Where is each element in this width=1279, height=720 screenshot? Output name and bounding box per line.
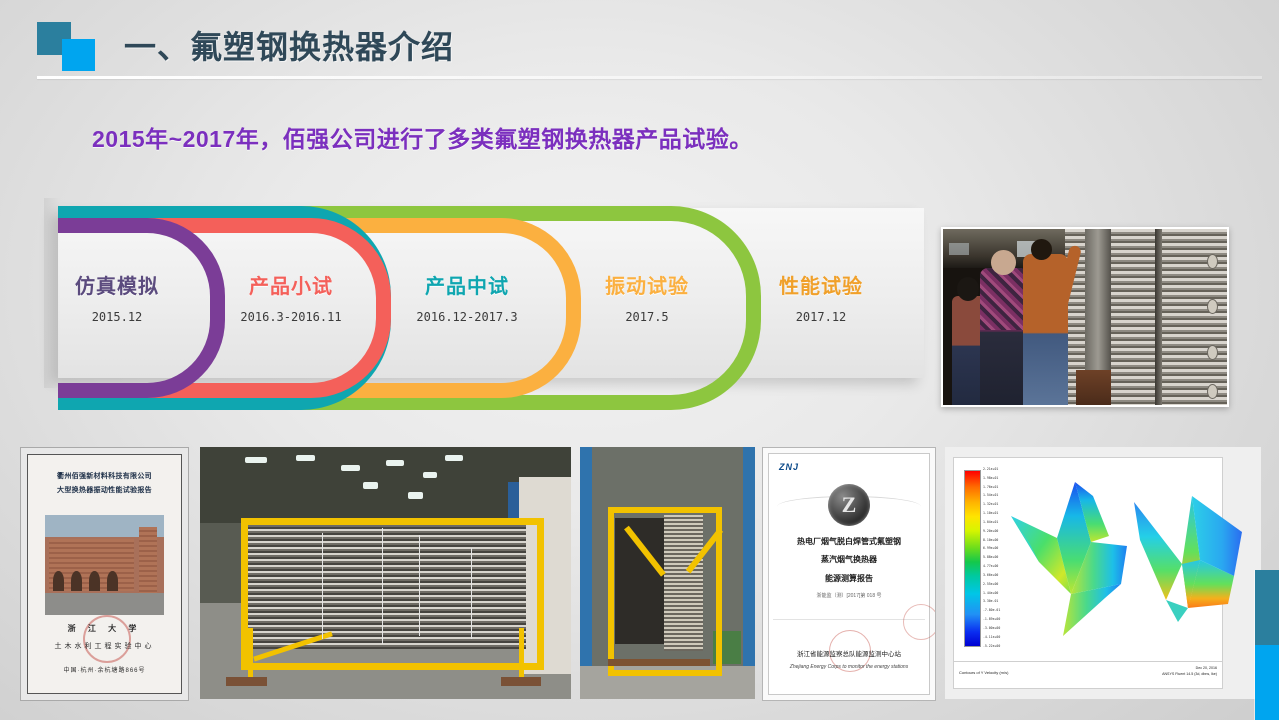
timeline-step-4[interactable]: 振动试验 2017.5 <box>572 270 722 324</box>
znj-medal-letter: Z <box>828 484 870 526</box>
cfd-plot-area: 2.21e+01 1.98e+01 1.76e+01 1.54e+01 1.32… <box>953 457 1223 687</box>
report-cover-dept: 土木水利工程实验中心 <box>28 641 181 651</box>
cfd-colorbar <box>964 470 981 647</box>
photo-site-inspection[interactable] <box>941 227 1229 407</box>
photo-lab-heat-exchanger[interactable] <box>200 447 571 699</box>
photo-lab-content <box>200 447 571 699</box>
report-cover-line1: 衢州佰强新材料科技有限公司 <box>36 471 173 482</box>
timeline-step-4-label: 振动试验 <box>572 270 722 299</box>
edge-block-cyan-icon <box>1255 645 1279 720</box>
znj-brand-logo: ZNJ <box>779 462 799 472</box>
znj-medal-icon: Z <box>828 484 870 526</box>
timeline-step-1-date: 2015.12 <box>42 310 192 324</box>
slide-root: 一、氟塑钢换热器介绍 2015年~2017年，佰强公司进行了多类氟塑钢换热器产品… <box>0 0 1279 720</box>
header-divider <box>37 76 1262 79</box>
znj-report-page: ZNJ Z 热电厂烟气脱白焊管式氟塑钢 蒸汽烟气换热器 能源测算报告 浙能监（测… <box>768 453 930 695</box>
cfd-title: Contours of Y Velocity (m/s) <box>959 670 1008 675</box>
timeline-step-5-date: 2017.12 <box>746 310 896 324</box>
timeline-step-4-date: 2017.5 <box>572 310 722 324</box>
report-cover-address: 中国·杭州·余杭塘路866号 <box>28 665 181 674</box>
timeline-step-3[interactable]: 产品中试 2016.12-2017.3 <box>392 270 542 324</box>
report-cover-org: 浙 江 大 学 <box>28 623 181 634</box>
photo-vibration-report-cover[interactable]: 衢州佰强新材料科技有限公司 大型换热器振动性能试验报告 浙 江 大 学 土木水利… <box>20 447 189 701</box>
report-cover-issuer: 浙 江 大 学 土木水利工程实验中心 中国·杭州·余杭塘路866号 <box>28 623 181 674</box>
timeline-step-1-label: 仿真模拟 <box>42 270 192 299</box>
cfd-solver-text: ANSYS Fluent 14.5 (3d, dbns, lke) <box>1162 671 1217 677</box>
znj-title-line2: 蒸汽烟气换热器 <box>775 554 923 565</box>
znj-doc-number: 浙能监（测）[2017]第 018 号 <box>775 592 923 599</box>
timeline-step-2[interactable]: 产品小试 2016.3-2016.11 <box>216 270 366 324</box>
photo-site-inspection-content <box>943 229 1227 405</box>
photo-vibration-content <box>580 447 755 699</box>
timeline-step-3-label: 产品中试 <box>392 270 542 299</box>
cfd-contour-left <box>1009 476 1134 646</box>
photo-vibration-test-rig[interactable] <box>580 447 755 699</box>
page-title: 一、氟塑钢换热器介绍 <box>124 22 454 68</box>
report-cover-page: 衢州佰强新材料科技有限公司 大型换热器振动性能试验报告 浙 江 大 学 土木水利… <box>27 454 182 694</box>
timeline-step-1[interactable]: 仿真模拟 2015.12 <box>42 270 192 324</box>
znj-side-seal-icon <box>903 604 936 640</box>
subtitle-text: 2015年~2017年，佰强公司进行了多类氟塑钢换热器产品试验。 <box>92 120 753 154</box>
photo-cfd-velocity-contour[interactable]: 2.21e+01 1.98e+01 1.76e+01 1.54e+01 1.32… <box>945 447 1261 699</box>
timeline-step-2-label: 产品小试 <box>216 270 366 299</box>
znj-title-line1: 热电厂烟气脱白焊管式氟塑钢 <box>775 536 923 547</box>
cfd-contour-right <box>1130 480 1255 645</box>
report-cover-building-photo <box>45 515 164 615</box>
cfd-meta: Dec 20, 2016 ANSYS Fluent 14.5 (3d, dbns… <box>1162 665 1217 677</box>
timeline-step-5-label: 性能试验 <box>746 270 896 299</box>
timeline-step-5[interactable]: 性能试验 2017.12 <box>746 270 896 324</box>
timeline-step-3-date: 2016.12-2017.3 <box>392 310 542 324</box>
photo-znj-energy-report[interactable]: ZNJ Z 热电厂烟气脱白焊管式氟塑钢 蒸汽烟气换热器 能源测算报告 浙能监（测… <box>762 447 936 701</box>
znj-title-line3: 能源测算报告 <box>775 573 923 584</box>
report-cover-line2: 大型换热器振动性能试验报告 <box>36 485 173 496</box>
header-square-light-icon <box>62 39 95 71</box>
cfd-tick: 2.21e+01 <box>983 468 1013 471</box>
cfd-caption-bar: Contours of Y Velocity (m/s) Dec 20, 201… <box>953 661 1223 689</box>
timeline-step-2-date: 2016.3-2016.11 <box>216 310 366 324</box>
timeline-diagram: 仿真模拟 2015.12 产品小试 2016.3-2016.11 产品中试 20… <box>44 198 924 388</box>
znj-footer-cn: 浙江省能源监察总队能源监测中心站 <box>773 648 925 658</box>
edge-block-teal-icon <box>1255 570 1279 645</box>
znj-footer-en: Zhejiang Energy Corps to monitor the ene… <box>773 664 925 670</box>
